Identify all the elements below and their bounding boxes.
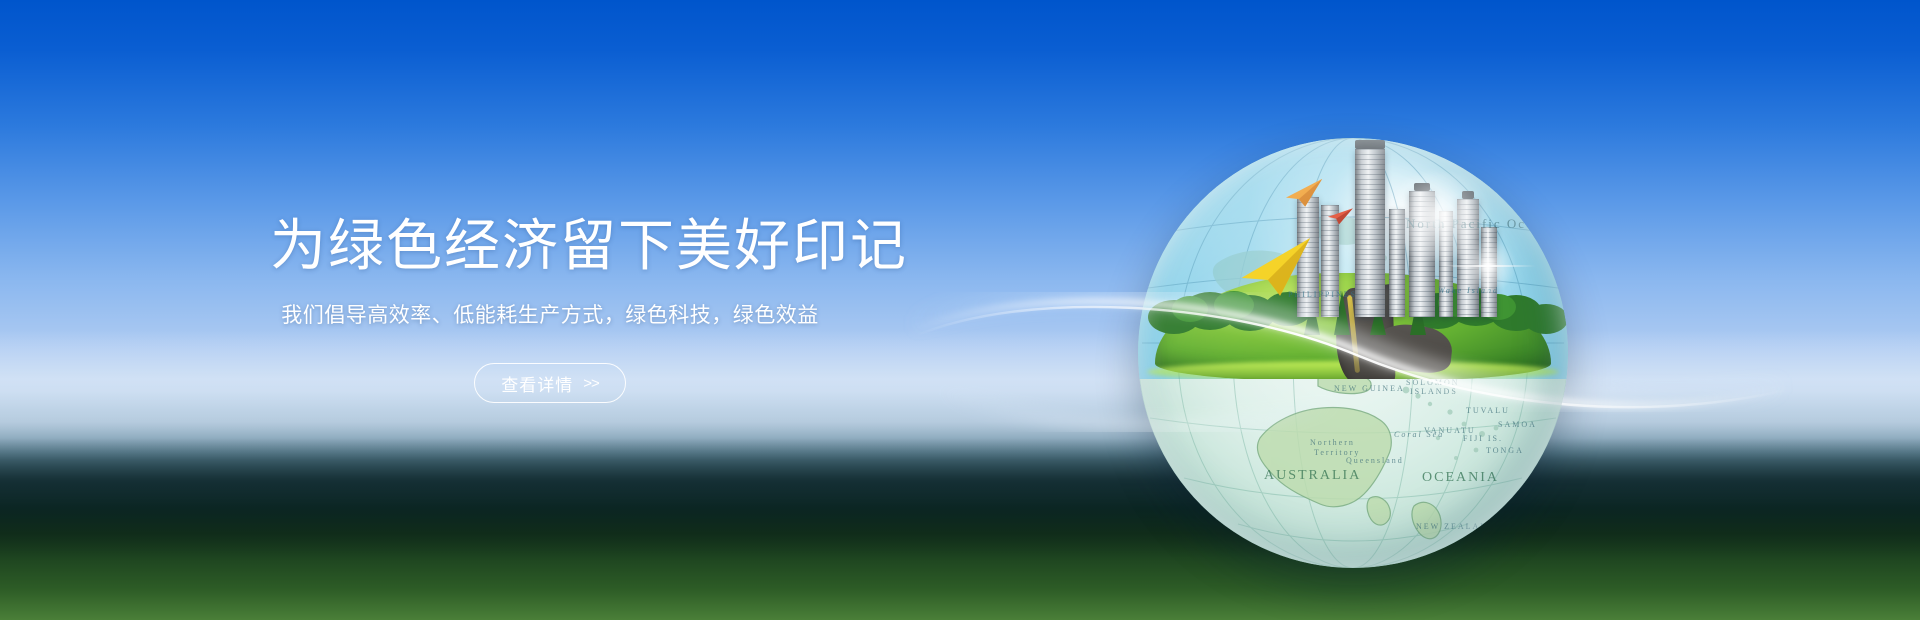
hero-subheadline: 我们倡导高效率、低能耗生产方式，绿色科技，绿色效益 xyxy=(270,300,830,332)
globe-sphere: North Pacific Ocean AUSTRALIA OCEANIA NE… xyxy=(1138,138,1568,568)
map-label: TUVALU xyxy=(1466,406,1510,415)
globe-glass-dome xyxy=(1138,138,1568,379)
map-label: ISLANDS xyxy=(1410,387,1458,396)
dome-sun-flare xyxy=(1456,234,1520,298)
map-label: FIJI IS. xyxy=(1463,434,1503,443)
map-label: Coral Sea xyxy=(1394,430,1444,439)
hero-banner: North Pacific Ocean AUSTRALIA OCEANIA NE… xyxy=(0,0,1920,620)
map-label: AUSTRALIA xyxy=(1264,468,1361,484)
map-label: Territory xyxy=(1314,448,1360,457)
double-chevron-right-icon: >> xyxy=(583,375,599,392)
map-label: NEW GUINEA xyxy=(1334,384,1405,393)
cta-container: 查看详情 >> xyxy=(270,363,830,403)
horizon-shadow xyxy=(0,438,1920,558)
map-label: SOLOMON xyxy=(1406,378,1460,387)
cta-label: 查看详情 xyxy=(501,371,573,396)
map-label: TONGA xyxy=(1486,446,1524,455)
map-label: Northern xyxy=(1310,438,1355,447)
map-label: SAMOA xyxy=(1498,420,1537,429)
globe-illustration: North Pacific Ocean AUSTRALIA OCEANIA NE… xyxy=(1118,120,1588,590)
tower xyxy=(1355,149,1385,317)
view-details-button[interactable]: 查看详情 >> xyxy=(474,363,626,403)
map-label: OCEANIA xyxy=(1422,470,1499,486)
map-label: Queensland xyxy=(1346,456,1404,465)
map-label: PHILIPPINES xyxy=(1288,290,1357,299)
page-title: 为绿色经济留下美好印记 xyxy=(270,215,830,278)
map-label: NEW ZEALAND xyxy=(1416,522,1496,531)
hero-copy-block: 为绿色经济留下美好印记 我们倡导高效率、低能耗生产方式，绿色科技，绿色效益 查看… xyxy=(270,215,830,403)
